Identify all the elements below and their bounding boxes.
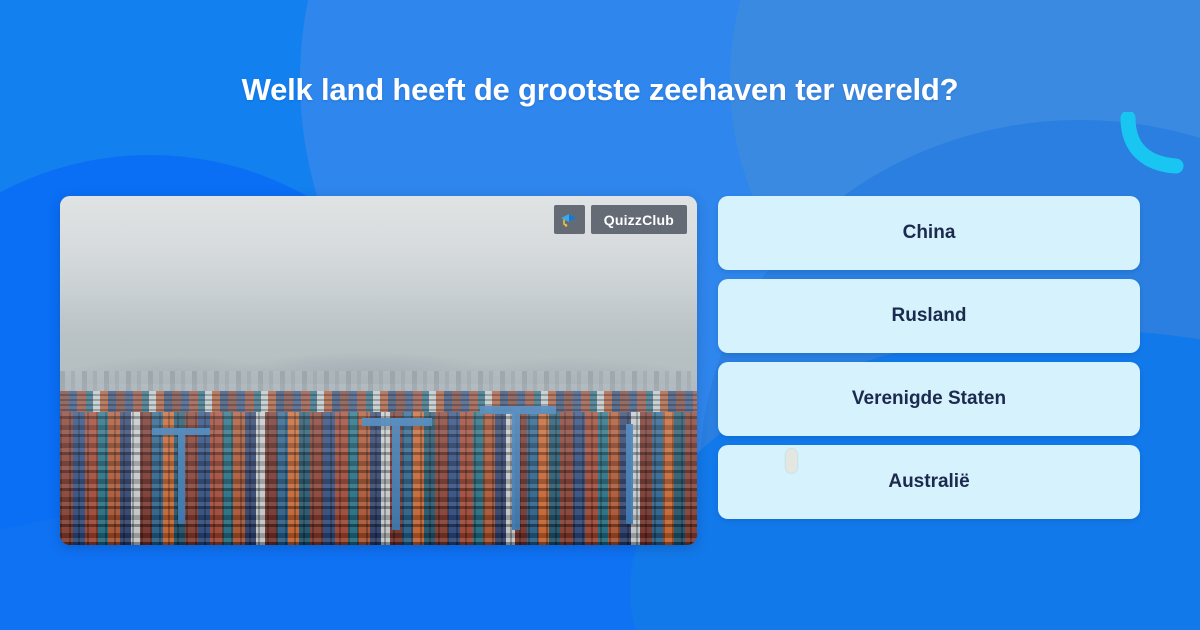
answer-option-1-label: China (903, 222, 956, 244)
photo-crane-center (392, 418, 400, 530)
question-image: QuizzClub (60, 196, 697, 545)
photo-crane-left-arm (152, 428, 210, 435)
arc-accent-icon (1118, 112, 1188, 174)
photo-crane-far-right (626, 424, 633, 524)
answer-option-4-label: Australië (888, 471, 969, 493)
graduation-cap-icon (554, 205, 585, 234)
answer-option-3-label: Verenigde Staten (852, 388, 1006, 410)
photo-crane-right (512, 406, 520, 530)
answer-options-list: China Rusland Verenigde Staten Australië (718, 196, 1140, 519)
quiz-card: Welk land heeft de grootste zeehaven ter… (0, 0, 1200, 630)
answer-option-3[interactable]: Verenigde Staten (718, 362, 1140, 436)
photo-crane-left (178, 428, 185, 524)
answer-option-2-label: Rusland (892, 305, 967, 327)
photo-crane-right-arm (480, 406, 556, 414)
watermark-badge: QuizzClub (554, 205, 687, 234)
answer-option-4[interactable]: Australië (718, 445, 1140, 519)
question-title: Welk land heeft de grootste zeehaven ter… (0, 72, 1200, 108)
watermark-brand-label: QuizzClub (591, 205, 687, 234)
answer-option-2[interactable]: Rusland (718, 279, 1140, 353)
scrollbar-thumb[interactable] (786, 449, 797, 473)
answer-option-1[interactable]: China (718, 196, 1140, 270)
photo-crane-center-arm (362, 418, 432, 426)
